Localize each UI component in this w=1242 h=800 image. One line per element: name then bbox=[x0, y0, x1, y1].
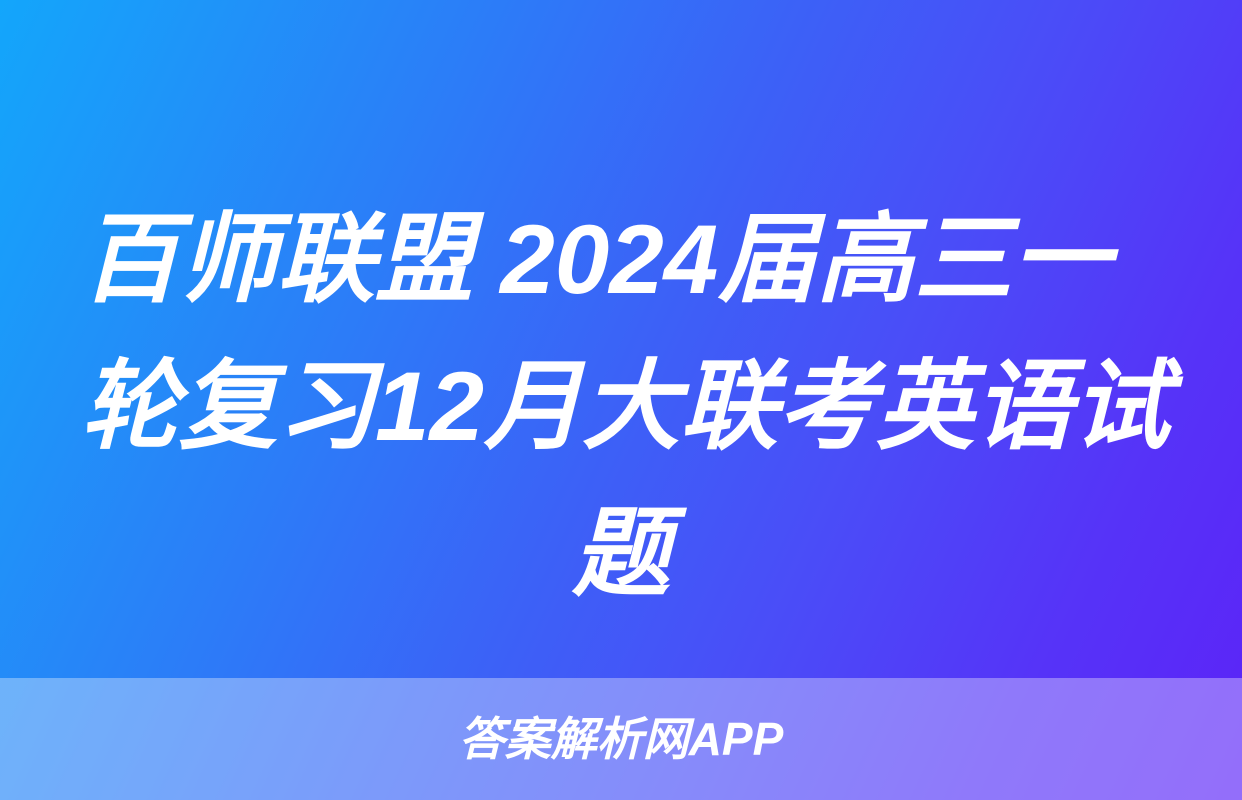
watermark-band: 答案解析网APP bbox=[0, 678, 1242, 800]
page-title: 百师联盟 2024届高三一 轮复习12月大联考英语试 题 bbox=[81, 186, 1161, 627]
title-line-2: 轮复习12月大联考英语试 bbox=[81, 333, 1161, 480]
title-line-1: 百师联盟 2024届高三一 bbox=[81, 186, 1161, 333]
watermark-text: 答案解析网APP bbox=[459, 716, 784, 762]
title-card: 百师联盟 2024届高三一 轮复习12月大联考英语试 题 答案解析网APP bbox=[0, 0, 1242, 800]
title-line-3: 题 bbox=[81, 480, 1161, 627]
